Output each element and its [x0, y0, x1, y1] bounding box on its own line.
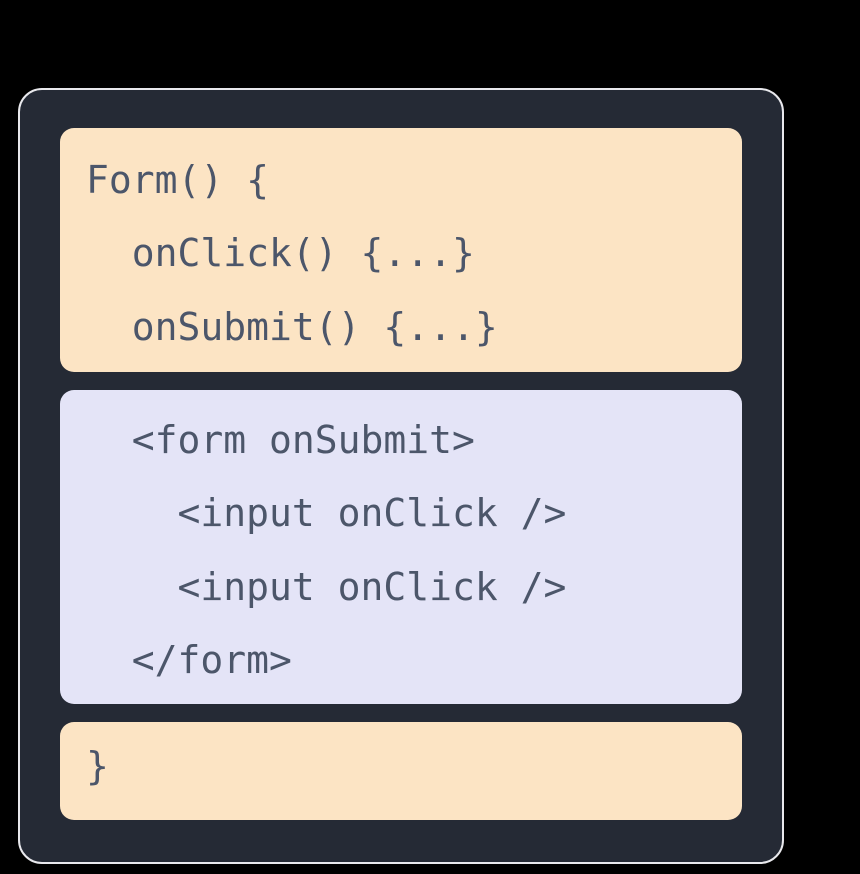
- diagram-canvas: Form() { onClick() {...} onSubmit() {...…: [0, 0, 860, 874]
- code-card: Form() { onClick() {...} onSubmit() {...…: [18, 88, 784, 864]
- code-line: }: [86, 730, 716, 803]
- code-line: <input onClick />: [86, 477, 716, 550]
- code-segment-jsx-markup: <form onSubmit> <input onClick /> <input…: [60, 390, 742, 704]
- code-segment-component-declaration: Form() { onClick() {...} onSubmit() {...…: [60, 128, 742, 372]
- code-line: Form() {: [86, 144, 716, 217]
- code-line: onSubmit() {...}: [86, 291, 716, 364]
- code-segment-component-close: }: [60, 722, 742, 820]
- code-line: <input onClick />: [86, 551, 716, 624]
- code-line: <form onSubmit>: [86, 404, 716, 477]
- code-line: </form>: [86, 624, 716, 697]
- code-line: onClick() {...}: [86, 217, 716, 290]
